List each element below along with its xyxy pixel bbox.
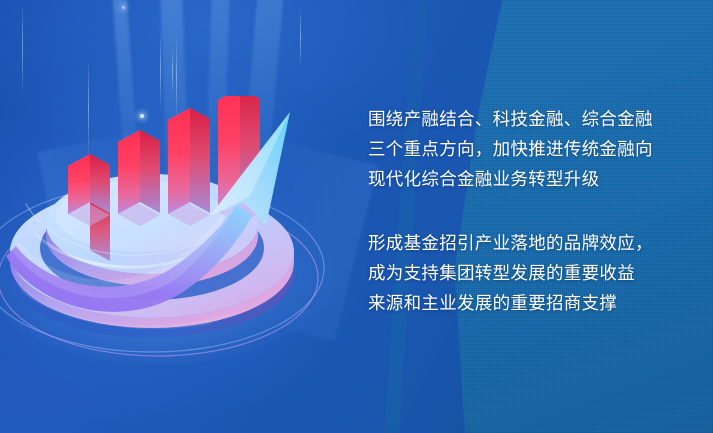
promo-banner: 围绕产融结合、科技金融、综合金融 三个重点方向，加快推进传统金融向 现代化综合金… <box>0 0 713 433</box>
sparkle-dot <box>122 6 125 9</box>
paragraph-2-line-3: 来源和主业发展的重要招商支撑 <box>368 288 688 318</box>
paragraph-2-line-2: 成为支持集团转型发展的重要收益 <box>368 258 688 288</box>
paragraph-2-line-1: 形成基金招引产业落地的品牌效应， <box>368 228 688 258</box>
paragraph-2: 形成基金招引产业落地的品牌效应， 成为支持集团转型发展的重要收益 来源和主业发展… <box>368 228 688 318</box>
text-content: 围绕产融结合、科技金融、综合金融 三个重点方向，加快推进传统金融向 现代化综合金… <box>368 104 688 318</box>
paragraph-1-line-2: 三个重点方向，加快推进传统金融向 <box>368 134 688 164</box>
paragraph-1-line-3: 现代化综合金融业务转型升级 <box>368 164 688 194</box>
light-streak <box>22 2 23 94</box>
chart-bar-2 <box>118 130 160 226</box>
light-streak <box>300 8 301 68</box>
growth-chart-illustration <box>0 96 340 366</box>
paragraph-1: 围绕产融结合、科技金融、综合金融 三个重点方向，加快推进传统金融向 现代化综合金… <box>368 104 688 194</box>
light-streak <box>172 46 173 96</box>
paragraph-1-line-1: 围绕产融结合、科技金融、综合金融 <box>368 104 688 134</box>
chart-bar-3 <box>168 108 210 226</box>
